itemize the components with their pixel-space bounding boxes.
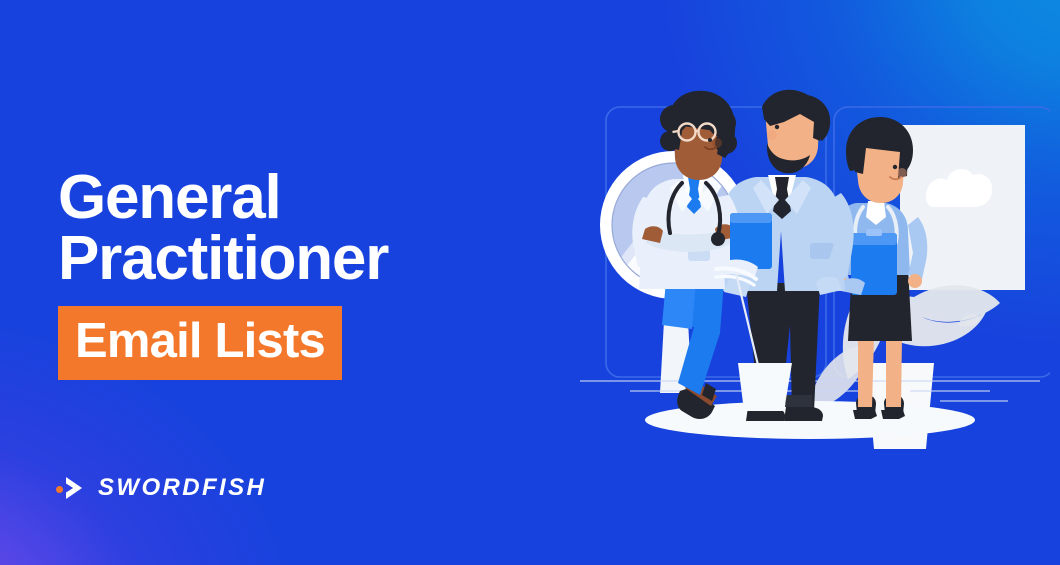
highlight-wrap: Email Lists <box>58 306 578 380</box>
headline-highlight: Email Lists <box>58 306 342 380</box>
hero-banner: General Practitioner Email Lists SWORDFI… <box>0 0 1060 565</box>
logo-wordmark: SWORDFISH <box>98 474 266 502</box>
doctor-female-afro <box>632 91 739 419</box>
dot-icon <box>56 486 63 493</box>
page-title: General Practitioner <box>58 168 578 290</box>
headline-block: General Practitioner Email Lists <box>58 168 578 380</box>
headline-line-1: General <box>58 163 281 232</box>
chevron-right-icon <box>64 476 84 505</box>
three-medical-professionals-illustration <box>570 85 1050 475</box>
headline-line-2: Practitioner <box>58 229 578 290</box>
logo-mark <box>56 473 86 503</box>
brand-logo[interactable]: SWORDFISH <box>56 473 266 503</box>
